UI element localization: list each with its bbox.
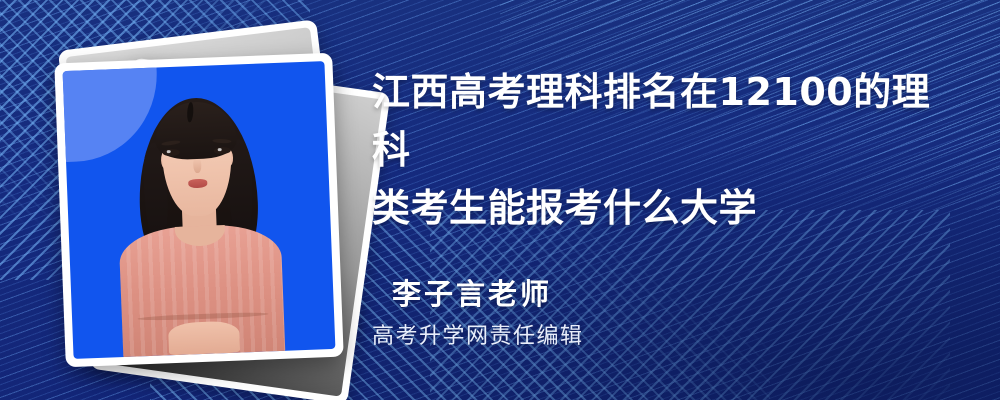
author-name: 李子言老师 [392,271,552,313]
text-column: 江西高考理科排名在12100的理科类考生能报考什么大学 李子言老师 高考升学网责… [372,0,952,400]
author-photo [63,61,336,359]
author-role: 高考升学网责任编辑 [372,318,584,350]
portrait-nose [193,158,201,173]
banner-title: 江西高考理科排名在12100的理科类考生能报考什么大学 [372,63,938,237]
author-photo-card [54,53,343,367]
portrait-illustration [63,61,336,359]
photo-stack [48,26,358,371]
article-cover-banner: 江西高考理科排名在12100的理科类考生能报考什么大学 李子言老师 高考升学网责… [0,0,1000,400]
portrait-hands [168,321,240,355]
banner-title-line-1: 江西高考理科排名在12100的理科 [372,70,930,172]
banner-title-line-2: 类考生能报考什么大学 [372,186,757,230]
